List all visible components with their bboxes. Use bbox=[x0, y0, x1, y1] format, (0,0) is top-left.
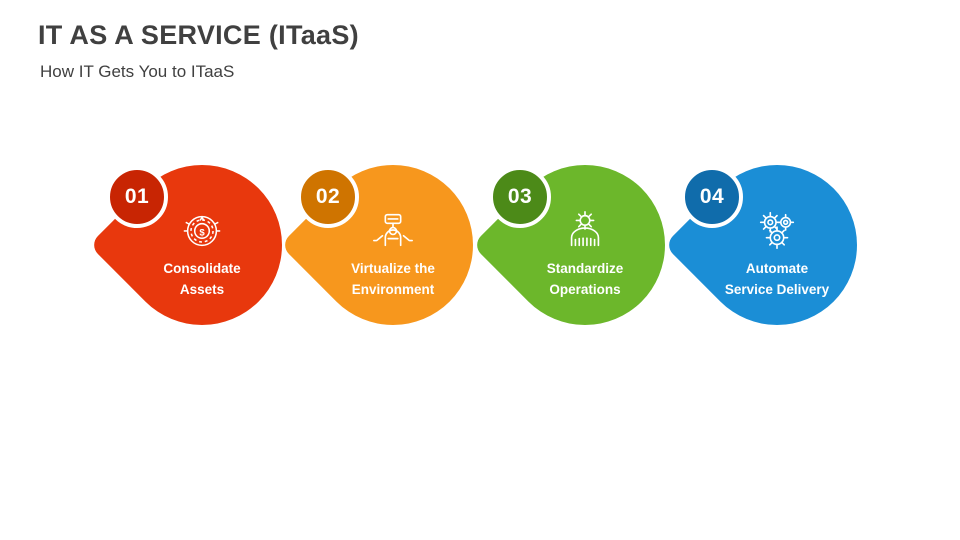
step-label-3: Standardize Operations bbox=[510, 259, 660, 301]
step-number-1: 01 bbox=[125, 185, 149, 209]
step-item-3[interactable]: Standardize Operations 03 bbox=[489, 160, 681, 385]
step-badge-1: 01 bbox=[106, 166, 168, 228]
step-label-line: Environment bbox=[318, 280, 468, 301]
process-steps: $ Consolidate Assets 01 bbox=[0, 160, 960, 390]
step-label-line: Assets bbox=[127, 280, 277, 301]
step-label-line: Operations bbox=[510, 280, 660, 301]
step-badge-3: 03 bbox=[489, 166, 551, 228]
step-label-line: Consolidate bbox=[127, 259, 277, 280]
page-title: IT AS A SERVICE (ITaaS) bbox=[38, 20, 359, 51]
page-subtitle: How IT Gets You to ITaaS bbox=[40, 62, 234, 82]
gears-icon bbox=[754, 207, 800, 253]
svg-text:$: $ bbox=[199, 227, 205, 238]
step-label-1: Consolidate Assets bbox=[127, 259, 277, 301]
step-badge-4: 04 bbox=[681, 166, 743, 228]
step-label-line: Virtualize the bbox=[318, 259, 468, 280]
step-number-2: 02 bbox=[316, 185, 340, 209]
step-label-4: Automate Service Delivery bbox=[702, 259, 852, 301]
step-badge-2: 02 bbox=[297, 166, 359, 228]
slide: IT AS A SERVICE (ITaaS) How IT Gets You … bbox=[0, 0, 960, 540]
gear-server-icon bbox=[562, 207, 608, 253]
step-label-line: Service Delivery bbox=[702, 280, 852, 301]
step-number-4: 04 bbox=[700, 185, 724, 209]
money-bag-gear-icon: $ bbox=[179, 207, 225, 253]
step-item-1[interactable]: $ Consolidate Assets 01 bbox=[106, 160, 298, 385]
step-label-line: Standardize bbox=[510, 259, 660, 280]
step-item-4[interactable]: Automate Service Delivery 04 bbox=[681, 160, 873, 385]
step-label-2: Virtualize the Environment bbox=[318, 259, 468, 301]
step-label-line: Automate bbox=[702, 259, 852, 280]
person-server-icon bbox=[370, 207, 416, 253]
step-item-2[interactable]: Virtualize the Environment 02 bbox=[297, 160, 489, 385]
step-number-3: 03 bbox=[508, 185, 532, 209]
